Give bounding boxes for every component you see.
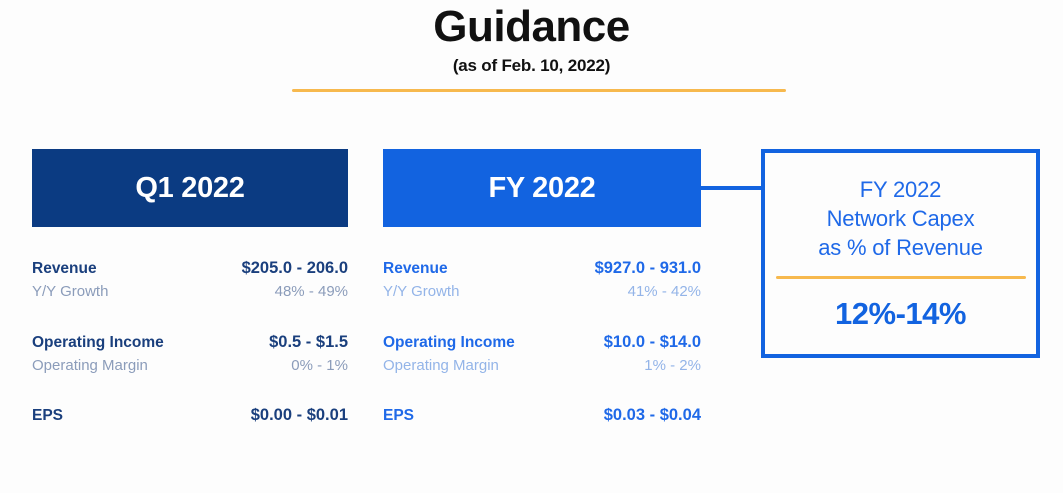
metric-list-q1-2022: Revenue $205.0 - 206.0 Y/Y Growth 48% - …	[32, 257, 348, 428]
callout-value: 12%-14%	[835, 296, 966, 332]
metric-group-eps: EPS $0.00 - $0.01	[32, 404, 348, 428]
guidance-column-fy-2022: FY 2022 Revenue $927.0 - 931.0 Y/Y Growt…	[383, 149, 701, 428]
callout-title-line-2: Network Capex	[818, 204, 983, 233]
metric-row: EPS $0.00 - $0.01	[32, 404, 348, 428]
metric-row: Operating Income $0.5 - $1.5	[32, 331, 348, 355]
metric-sub-value: 48% - 49%	[275, 281, 348, 303]
metric-value: $205.0 - 206.0	[242, 257, 348, 281]
title-block: Guidance (as of Feb. 10, 2022)	[0, 4, 1063, 76]
guidance-column-q1-2022: Q1 2022 Revenue $205.0 - 206.0 Y/Y Growt…	[32, 149, 348, 428]
metric-row: Operating Income $10.0 - $14.0	[383, 331, 701, 355]
metric-sub-label: Y/Y Growth	[32, 281, 108, 303]
metric-row-sub: Y/Y Growth 48% - 49%	[32, 281, 348, 303]
metric-sub-value: 41% - 42%	[628, 281, 701, 303]
metric-row: Revenue $205.0 - 206.0	[32, 257, 348, 281]
column-header-q1-2022: Q1 2022	[32, 149, 348, 227]
metric-sub-value: 1% - 2%	[644, 355, 701, 377]
metric-label: Revenue	[32, 258, 97, 280]
metric-label: EPS	[383, 405, 414, 427]
metric-group-operating-income: Operating Income $0.5 - $1.5 Operating M…	[32, 331, 348, 377]
metric-group-operating-income: Operating Income $10.0 - $14.0 Operating…	[383, 331, 701, 377]
metric-group-revenue: Revenue $205.0 - 206.0 Y/Y Growth 48% - …	[32, 257, 348, 303]
callout-divider-rule	[776, 276, 1026, 279]
metric-sub-label: Y/Y Growth	[383, 281, 459, 303]
metric-row: EPS $0.03 - $0.04	[383, 404, 701, 428]
metric-value: $0.00 - $0.01	[251, 404, 348, 428]
metric-row: Revenue $927.0 - 931.0	[383, 257, 701, 281]
metric-sub-label: Operating Margin	[32, 355, 148, 377]
metric-sub-label: Operating Margin	[383, 355, 499, 377]
spacer	[383, 303, 701, 331]
page-title: Guidance	[0, 4, 1063, 50]
spacer	[32, 303, 348, 331]
connector-line	[701, 186, 763, 190]
metric-value: $0.03 - $0.04	[604, 404, 701, 428]
column-header-fy-2022: FY 2022	[383, 149, 701, 227]
title-divider-rule	[292, 89, 786, 92]
network-capex-callout: FY 2022 Network Capex as % of Revenue 12…	[761, 149, 1040, 358]
page-subtitle: (as of Feb. 10, 2022)	[0, 56, 1063, 76]
spacer	[32, 376, 348, 404]
callout-title-line-3: as % of Revenue	[818, 233, 983, 262]
metric-list-fy-2022: Revenue $927.0 - 931.0 Y/Y Growth 41% - …	[383, 257, 701, 428]
callout-title-line-1: FY 2022	[818, 175, 983, 204]
metric-row-sub: Y/Y Growth 41% - 42%	[383, 281, 701, 303]
metric-label: EPS	[32, 405, 63, 427]
metric-row-sub: Operating Margin 0% - 1%	[32, 355, 348, 377]
metric-row-sub: Operating Margin 1% - 2%	[383, 355, 701, 377]
metric-group-eps: EPS $0.03 - $0.04	[383, 404, 701, 428]
metric-group-revenue: Revenue $927.0 - 931.0 Y/Y Growth 41% - …	[383, 257, 701, 303]
metric-label: Operating Income	[383, 332, 515, 354]
metric-value: $0.5 - $1.5	[269, 331, 348, 355]
callout-title: FY 2022 Network Capex as % of Revenue	[818, 175, 983, 262]
metric-value: $10.0 - $14.0	[604, 331, 701, 355]
spacer	[383, 376, 701, 404]
metric-label: Operating Income	[32, 332, 164, 354]
metric-value: $927.0 - 931.0	[595, 257, 701, 281]
metric-sub-value: 0% - 1%	[291, 355, 348, 377]
metric-label: Revenue	[383, 258, 448, 280]
